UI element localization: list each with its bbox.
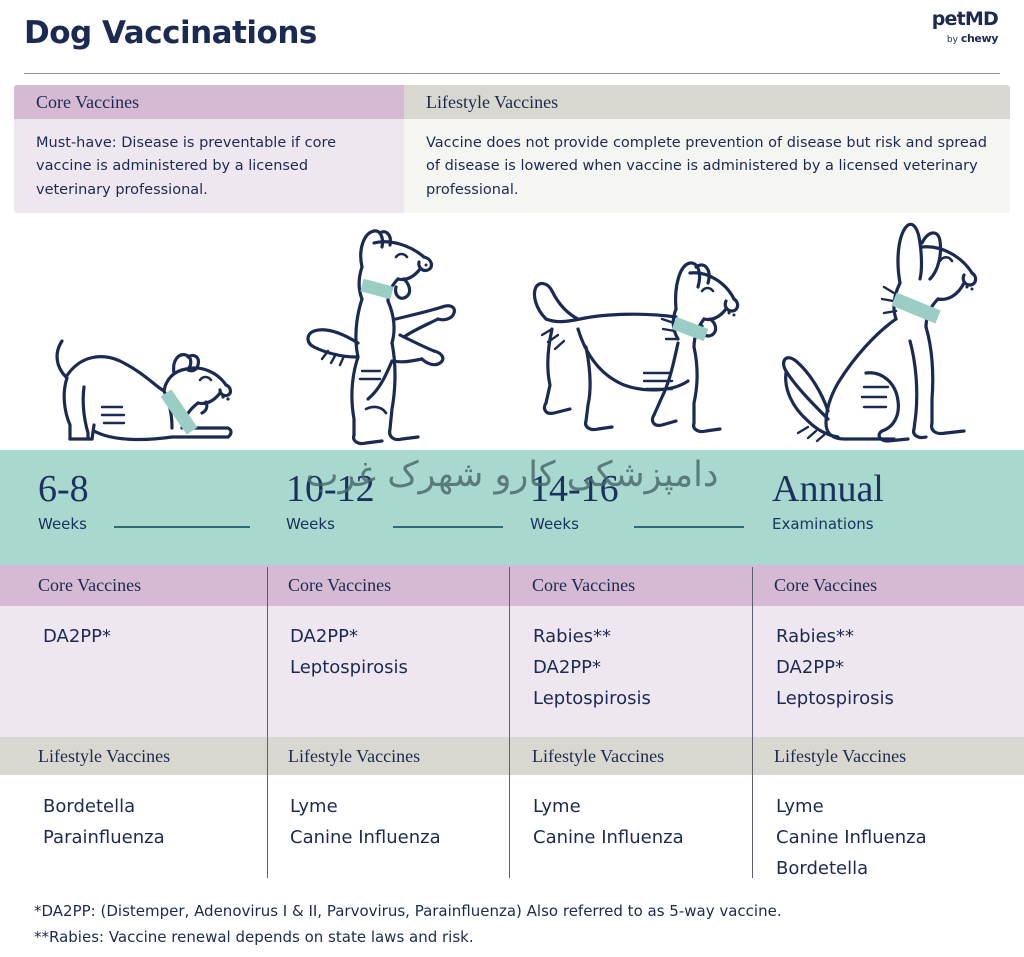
vaccine-item: Rabies** bbox=[776, 622, 894, 653]
lifestyle-list-col-1: BordetellaParainfluenza bbox=[43, 792, 165, 854]
legend-core-column: Core Vaccines Must-have: Disease is prev… bbox=[14, 85, 404, 213]
brand-parent-name: chewy bbox=[961, 32, 998, 45]
vaccine-item: Bordetella bbox=[776, 854, 927, 885]
timeline-value-2: 10-12 bbox=[286, 470, 375, 508]
vaccine-item: DA2PP* bbox=[776, 653, 894, 684]
legend-core-body: Must-have: Disease is preventable if cor… bbox=[14, 119, 404, 213]
timeline-item-1: 6-8 Weeks bbox=[38, 470, 89, 532]
brand-logo: petMD by chewy bbox=[932, 10, 998, 45]
lifestyle-heading-col-3: Lifestyle Vaccines bbox=[532, 737, 664, 775]
lifestyle-heading-col-1: Lifestyle Vaccines bbox=[38, 737, 170, 775]
vaccine-item: Rabies** bbox=[533, 622, 651, 653]
brand-name: petMD bbox=[932, 10, 998, 29]
lifestyle-list-col-3: LymeCanine Influenza bbox=[533, 792, 684, 854]
core-list-col-2: DA2PP*Leptospirosis bbox=[290, 622, 408, 684]
lifestyle-list-col-2: LymeCanine Influenza bbox=[290, 792, 441, 854]
brand-tagline: by chewy bbox=[932, 33, 998, 45]
timeline-rule-3 bbox=[634, 526, 744, 528]
vaccine-item: Leptospirosis bbox=[533, 684, 651, 715]
page-title: Dog Vaccinations bbox=[24, 16, 1000, 50]
vaccine-item: Leptospirosis bbox=[776, 684, 894, 715]
timeline-value-3: 14-16 bbox=[530, 470, 619, 508]
timeline-rule-1 bbox=[114, 526, 250, 528]
header-divider bbox=[24, 73, 1000, 74]
core-heading-col-2: Core Vaccines bbox=[288, 565, 391, 606]
column-divider-1 bbox=[267, 567, 268, 878]
core-heading-col-3: Core Vaccines bbox=[532, 565, 635, 606]
legend: Core Vaccines Must-have: Disease is prev… bbox=[14, 85, 1010, 213]
core-list-col-3: Rabies**DA2PP*Leptospirosis bbox=[533, 622, 651, 715]
timeline-value-1: 6-8 bbox=[38, 470, 89, 508]
vaccine-item: Canine Influenza bbox=[290, 823, 441, 854]
infographic-root: Dog Vaccinations petMD by chewy Core Vac… bbox=[0, 0, 1024, 957]
core-list-col-4: Rabies**DA2PP*Leptospirosis bbox=[776, 622, 894, 715]
column-divider-2 bbox=[509, 567, 510, 878]
dog-illustration-walking-dog bbox=[528, 251, 743, 451]
core-heading-col-4: Core Vaccines bbox=[774, 565, 877, 606]
header: Dog Vaccinations bbox=[0, 0, 1024, 78]
legend-core-heading: Core Vaccines bbox=[14, 85, 404, 119]
footnote-da2pp: *DA2PP: (Distemper, Adenovirus I & II, P… bbox=[34, 898, 782, 924]
timeline-unit-2: Weeks bbox=[286, 517, 375, 532]
footnote-rabies: **Rabies: Vaccine renewal depends on sta… bbox=[34, 924, 782, 950]
vaccine-item: Leptospirosis bbox=[290, 653, 408, 684]
legend-lifestyle-body: Vaccine does not provide complete preven… bbox=[404, 119, 1010, 213]
timeline-item-4: Annual Examinations bbox=[772, 470, 884, 532]
vaccine-item: Canine Influenza bbox=[533, 823, 684, 854]
timeline-rule-2 bbox=[393, 526, 503, 528]
lifestyle-heading-col-4: Lifestyle Vaccines bbox=[774, 737, 906, 775]
footnotes: *DA2PP: (Distemper, Adenovirus I & II, P… bbox=[34, 898, 782, 951]
timeline-band: 6-8 Weeks 10-12 Weeks 14-16 Weeks Annual… bbox=[0, 450, 1024, 565]
vaccine-item: DA2PP* bbox=[533, 653, 651, 684]
legend-lifestyle-column: Lifestyle Vaccines Vaccine does not prov… bbox=[404, 85, 1010, 213]
timeline-unit-4: Examinations bbox=[772, 517, 884, 532]
dog-illustration-row bbox=[0, 213, 1024, 453]
vaccine-item: Lyme bbox=[533, 792, 684, 823]
timeline-unit-1: Weeks bbox=[38, 517, 89, 532]
vaccine-item: Bordetella bbox=[43, 792, 165, 823]
vaccine-item: DA2PP* bbox=[43, 622, 111, 653]
dog-illustration-begging-dog bbox=[300, 223, 485, 448]
timeline-unit-3: Weeks bbox=[530, 517, 619, 532]
core-heading-col-1: Core Vaccines bbox=[38, 565, 141, 606]
lifestyle-list-col-4: LymeCanine InfluenzaBordetella bbox=[776, 792, 927, 885]
column-divider-3 bbox=[752, 567, 753, 878]
core-list-col-1: DA2PP* bbox=[43, 622, 111, 653]
lifestyle-heading-col-2: Lifestyle Vaccines bbox=[288, 737, 420, 775]
brand-by-text: by bbox=[947, 35, 958, 45]
vaccine-item: Canine Influenza bbox=[776, 823, 927, 854]
vaccine-item: Lyme bbox=[776, 792, 927, 823]
timeline-item-2: 10-12 Weeks bbox=[286, 470, 375, 532]
timeline-item-3: 14-16 Weeks bbox=[530, 470, 619, 532]
vaccine-item: DA2PP* bbox=[290, 622, 408, 653]
timeline-value-4: Annual bbox=[772, 470, 884, 508]
vaccine-item: Parainfluenza bbox=[43, 823, 165, 854]
vaccine-item: Lyme bbox=[290, 792, 441, 823]
legend-lifestyle-heading: Lifestyle Vaccines bbox=[404, 85, 1010, 119]
dog-illustration-play-bow-puppy bbox=[40, 331, 250, 453]
dog-illustration-sitting-dog bbox=[770, 221, 985, 449]
